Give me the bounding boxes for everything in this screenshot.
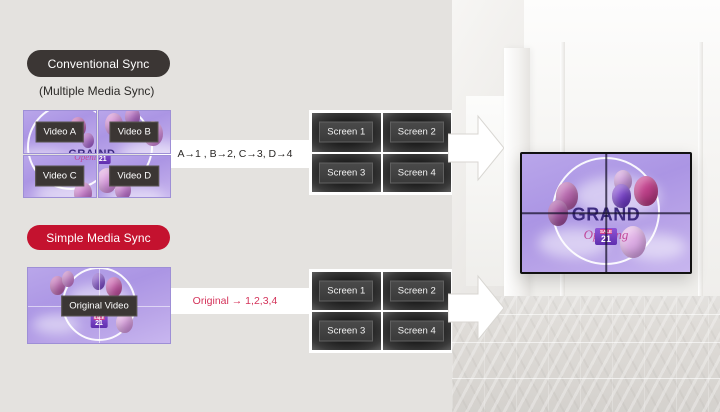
destination-screen-2[interactable]: Screen 2 [383,272,452,310]
flow-arrow-bottom [448,272,504,344]
flow-arrow-top [448,112,504,184]
destination-screen-4[interactable]: Screen 4 [383,154,452,193]
wall-panel-seam [698,42,703,300]
source-tile-label: Video B [110,121,159,142]
destination-screen-label: Screen 2 [390,122,444,143]
simple-media-sync-badge: Simple Media Sync [27,225,170,250]
destination-screen-label: Screen 3 [319,162,373,183]
screenshot-root: Conventional Sync (Multiple Media Sync) … [0,0,720,412]
simple-media-sync-badge-label: Simple Media Sync [46,231,150,245]
video-wall-bezel-horizontal [522,212,690,214]
conventional-sync-badge: Conventional Sync [27,50,170,77]
destination-screen-3[interactable]: Screen 3 [312,312,381,350]
simple-destination-screens: Screen 1 Screen 2 Screen 3 Screen 4 [309,269,454,353]
destination-screen-4[interactable]: Screen 4 [383,312,452,350]
source-tile-video-b[interactable]: AND Video B [99,111,171,153]
source-tile-label: Video A [35,121,84,142]
destination-screen-label: Screen 2 [390,281,444,302]
conventional-destination-screens: Screen 1 Screen 2 Screen 3 Screen 4 [309,110,454,195]
destination-screen-3[interactable]: Screen 3 [312,154,381,193]
room-scene: GRAND Opening SALE 21 [452,0,720,412]
destination-screen-label: Screen 4 [390,321,444,342]
destination-screen-label: Screen 1 [319,281,373,302]
simple-mapping-text: Original → 1,2,3,4 [150,288,320,314]
destination-screen-1[interactable]: Screen 1 [312,113,381,152]
destination-screen-label: Screen 4 [390,162,444,183]
video-wall[interactable]: GRAND Opening SALE 21 [520,152,692,274]
destination-screen-label: Screen 1 [319,122,373,143]
source-tile-label: Video D [109,166,159,187]
simple-source-original-video[interactable]: SALE21 Original Video [28,268,170,343]
conventional-source-quad: GRAND Video A AND Video B Opening Vid [24,111,170,197]
destination-screen-2[interactable]: Screen 2 [383,113,452,152]
conventional-sync-badge-label: Conventional Sync [48,57,150,71]
source-tile-video-c[interactable]: Opening Video C [24,156,96,198]
destination-screen-1[interactable]: Screen 1 [312,272,381,310]
video-wall-grid: GRAND Opening SALE 21 [522,154,690,272]
source-tile-video-d[interactable]: SALE21 Video D [99,156,171,198]
simple-source-label: Original Video [61,295,137,316]
source-tile-video-a[interactable]: GRAND Video A [24,111,96,153]
source-tile-label: Video C [35,166,85,187]
conventional-sync-subtitle: (Multiple Media Sync) [39,84,154,98]
destination-screen-label: Screen 3 [319,321,373,342]
conventional-mapping-text: A→1 , B→2, C→3, D→4 [150,140,320,168]
